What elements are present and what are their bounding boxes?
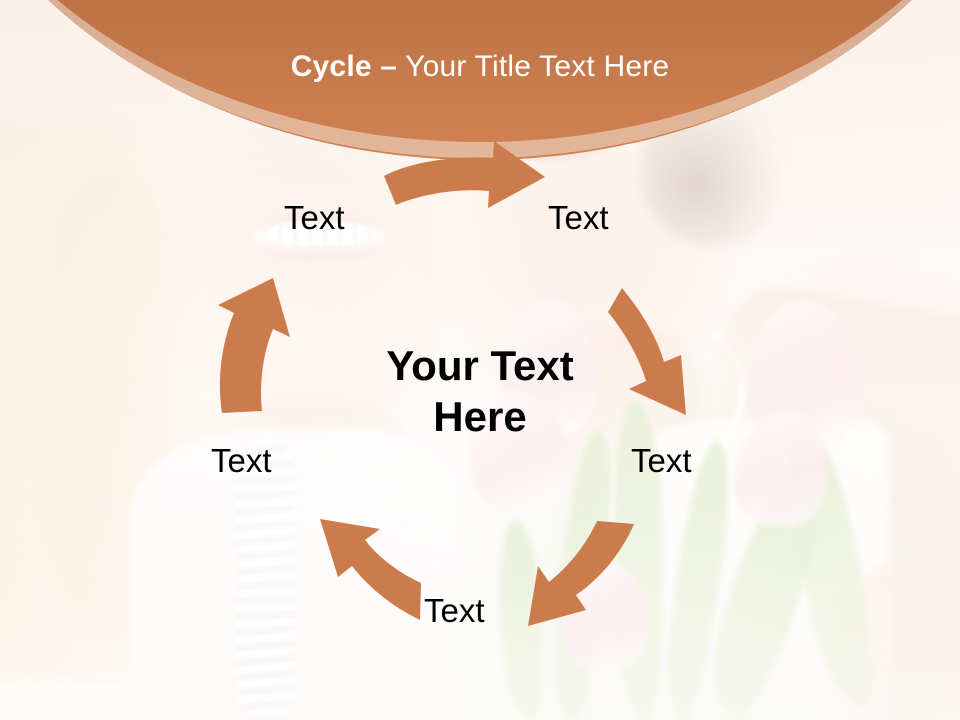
node-bottom-label: Text (424, 594, 485, 627)
slide: Cycle – Your Title Text Here Text Text T… (0, 0, 960, 720)
node-top-left-label: Text (284, 201, 345, 234)
center-text-line-1: Your Text (280, 340, 680, 391)
page-title-bold: Cycle – (291, 50, 397, 83)
page-title: Cycle – Your Title Text Here (0, 50, 960, 84)
center-text: Your Text Here (280, 340, 680, 442)
arrow-lower-right-icon[interactable] (528, 521, 634, 626)
arrow-lower-left-icon[interactable] (320, 519, 421, 620)
node-right-label: Text (631, 444, 692, 477)
page-title-rest: Your Title Text Here (397, 50, 669, 83)
node-top-right-label: Text (548, 201, 609, 234)
cycle-diagram: Text Text Text Text Text Your Text Here (0, 0, 960, 720)
node-left-label: Text (211, 444, 272, 477)
center-text-line-2: Here (280, 391, 680, 442)
arrow-top-icon[interactable] (384, 141, 545, 208)
